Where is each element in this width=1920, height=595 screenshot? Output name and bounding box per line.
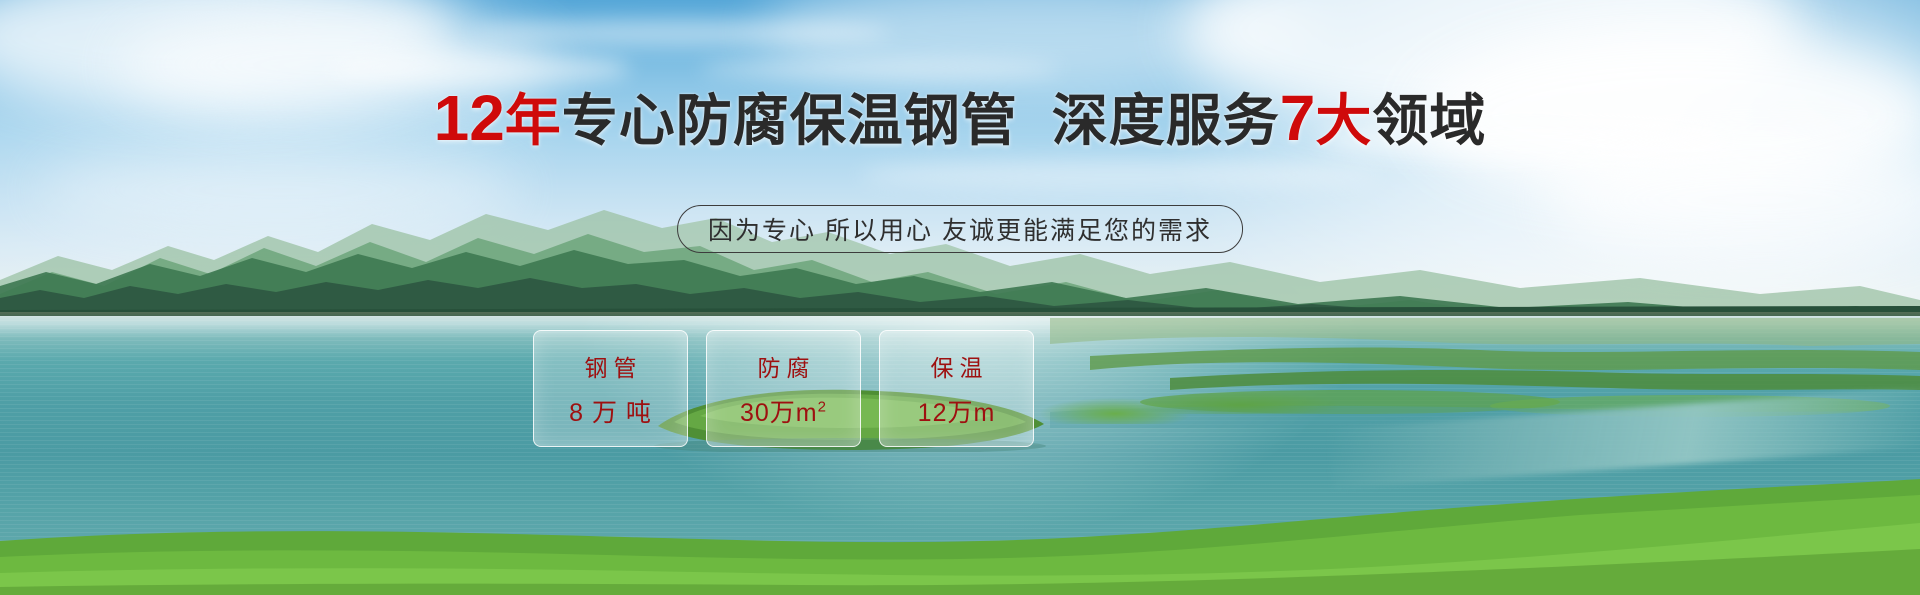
stat-card-value: 30万m2 bbox=[740, 393, 827, 429]
grass-tuft bbox=[1140, 392, 1340, 414]
cloud-icon bbox=[330, 52, 630, 86]
stat-card-value: 12万m bbox=[918, 393, 996, 429]
stat-card-anticorrosion[interactable]: 防腐 30万m2 bbox=[706, 330, 861, 447]
stat-card-value-superscript: 2 bbox=[818, 398, 827, 415]
headline-years-number: 12 bbox=[434, 82, 505, 154]
cloud-icon bbox=[700, 58, 1060, 80]
subtitle-pill: 因为专心 所以用心 友诚更能满足您的需求 bbox=[677, 205, 1243, 253]
promo-banner: 12年专心防腐保温钢管深度服务7大领域 因为专心 所以用心 友诚更能满足您的需求… bbox=[0, 0, 1920, 595]
stat-card-title: 钢管 bbox=[579, 349, 643, 383]
stat-card-title: 防腐 bbox=[752, 349, 816, 383]
stat-card-value: 8 万 吨 bbox=[569, 393, 652, 429]
headline-main-text: 专心防腐保温钢管 bbox=[562, 89, 1018, 152]
stat-card-insulation[interactable]: 保温 12万m bbox=[879, 330, 1034, 447]
headline-fields-number: 7 bbox=[1280, 82, 1316, 154]
page-title: 12年专心防腐保温钢管深度服务7大领域 bbox=[0, 88, 1920, 151]
cloud-icon bbox=[860, 160, 1380, 190]
headline-fields-unit: 大 bbox=[1315, 89, 1372, 152]
stat-card-steel-pipe[interactable]: 钢管 8 万 吨 bbox=[533, 330, 688, 447]
stats-card-group: 钢管 8 万 吨 防腐 30万m2 保温 12万m bbox=[533, 330, 1034, 447]
headline-years-unit: 年 bbox=[505, 89, 562, 152]
subtitle-text: 因为专心 所以用心 友诚更能满足您的需求 bbox=[708, 211, 1212, 247]
stat-card-title: 保温 bbox=[925, 349, 989, 383]
headline-fields-text: 领域 bbox=[1372, 89, 1486, 152]
headline-service-text: 深度服务 bbox=[1052, 89, 1280, 152]
